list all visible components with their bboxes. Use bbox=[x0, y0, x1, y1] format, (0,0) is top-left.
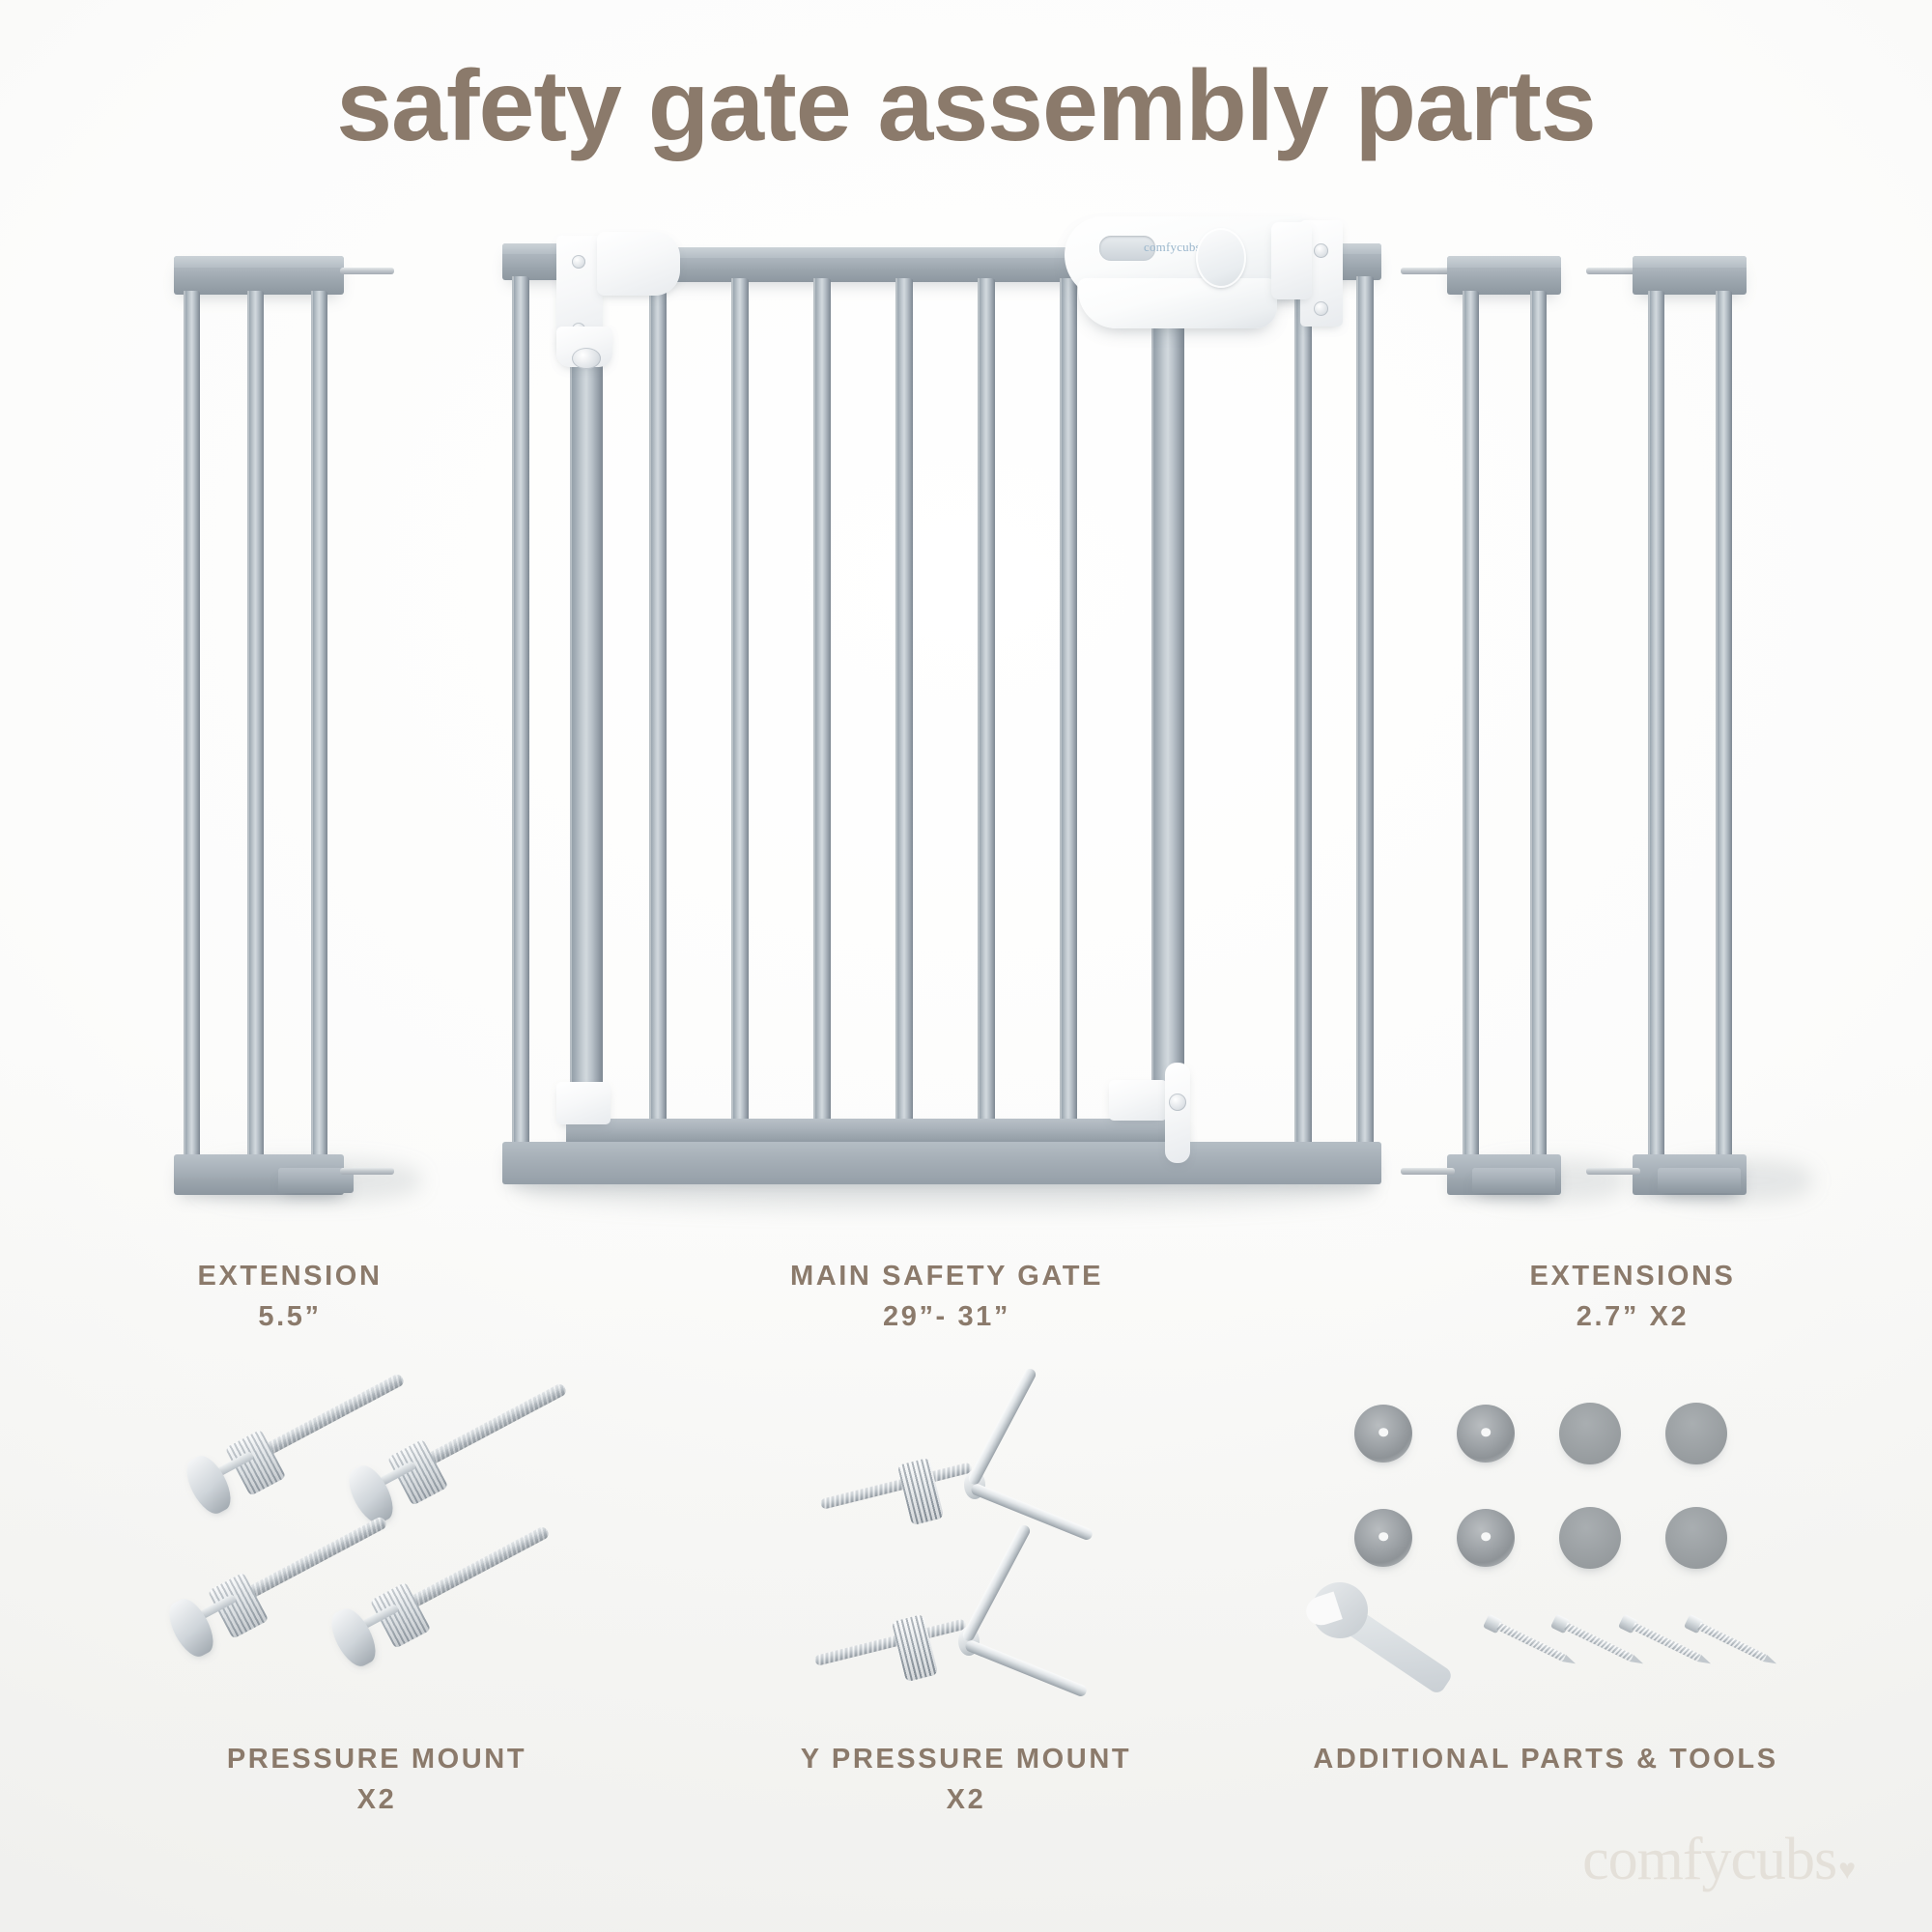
y-mount-threaded-rod bbox=[820, 1462, 973, 1509]
gate-bottom-latch-arm[interactable] bbox=[1165, 1063, 1190, 1163]
caption-line-2: X2 bbox=[734, 1779, 1198, 1820]
gate-hinge-top-barrel bbox=[597, 232, 680, 296]
caption-additional-parts-tools: ADDITIONAL PARTS & TOOLS bbox=[1246, 1739, 1845, 1779]
wrench bbox=[1298, 1582, 1463, 1698]
extension-bottom-rail-lip bbox=[1472, 1168, 1555, 1193]
extension-bar bbox=[184, 291, 200, 1160]
product-extension-2-7-a bbox=[1447, 256, 1621, 1203]
gate-bottom-latch-block bbox=[1109, 1080, 1167, 1121]
caption-extensions-2-7: EXTENSIONS 2.7” X2 bbox=[1391, 1256, 1874, 1337]
gate-door-bar bbox=[895, 278, 913, 1128]
y-mount-branch-upper bbox=[967, 1367, 1038, 1487]
page-title: safety gate assembly parts bbox=[0, 56, 1932, 156]
gate-hinge-bottom-block bbox=[556, 1082, 611, 1124]
bottom-latch-pivot-icon bbox=[1169, 1094, 1186, 1111]
product-y-pressure-mount-set bbox=[821, 1381, 1169, 1710]
wall-pad bbox=[1665, 1507, 1727, 1569]
y-pressure-mount bbox=[815, 1538, 1134, 1702]
caption-line-2: 5.5” bbox=[58, 1296, 522, 1337]
gate-latch-handle-lower[interactable] bbox=[1078, 278, 1277, 328]
brand-watermark-text: comfycubs bbox=[1582, 1827, 1836, 1892]
screw-tip bbox=[1764, 1655, 1778, 1667]
extension-bottom-connector-rod bbox=[1586, 1168, 1640, 1175]
wall-cup bbox=[1457, 1405, 1515, 1463]
extension-top-rail bbox=[174, 256, 344, 295]
y-pressure-mount bbox=[821, 1381, 1140, 1546]
product-pressure-mount-set bbox=[203, 1401, 609, 1719]
caption-line-2: 2.7” X2 bbox=[1391, 1296, 1874, 1337]
gate-door-bar bbox=[978, 278, 995, 1128]
gate-outer-post-left bbox=[512, 276, 529, 1175]
latch-brand-label: comfycubs bbox=[1144, 240, 1201, 255]
extension-bottom-rail-lip bbox=[1658, 1168, 1741, 1193]
product-main-safety-gate: comfycubs bbox=[502, 243, 1381, 1209]
caption-line-1: EXTENSION bbox=[198, 1261, 383, 1292]
gate-door-bar bbox=[813, 278, 831, 1128]
caption-line-1: PRESSURE MOUNT bbox=[227, 1744, 526, 1775]
y-mount-knurled-nut bbox=[892, 1614, 938, 1682]
gate-threshold-bar bbox=[502, 1142, 1381, 1184]
gate-outer-post-right-inner bbox=[1294, 276, 1312, 1175]
y-mount-threaded-rod bbox=[814, 1618, 967, 1665]
caption-line-2: 29”- 31” bbox=[676, 1296, 1217, 1337]
wall-cup bbox=[1354, 1509, 1412, 1567]
screw-tip bbox=[1631, 1655, 1645, 1667]
screw-tip bbox=[1698, 1655, 1713, 1667]
gate-door-bar bbox=[731, 278, 749, 1128]
hinge-screw-icon bbox=[572, 255, 585, 269]
pressure-mount-bolt bbox=[365, 1410, 587, 1565]
screw-tip bbox=[1563, 1655, 1577, 1667]
y-mount-branch-lower bbox=[964, 1638, 1089, 1697]
caption-line-1: MAIN SAFETY GATE bbox=[790, 1261, 1103, 1292]
pressure-mount-bolt bbox=[348, 1553, 570, 1708]
extension-bar bbox=[311, 291, 327, 1160]
wall-pad bbox=[1559, 1403, 1621, 1464]
extension-bar bbox=[1716, 291, 1732, 1160]
y-mount-branch-lower bbox=[970, 1482, 1094, 1541]
extension-bar bbox=[247, 291, 264, 1160]
caption-line-1: EXTENSIONS bbox=[1530, 1261, 1736, 1292]
product-additional-parts-tools bbox=[1343, 1391, 1748, 1719]
product-extension-5-5 bbox=[174, 256, 406, 1203]
brand-watermark: comfycubs♥ bbox=[1582, 1830, 1855, 1889]
wall-pad bbox=[1665, 1403, 1727, 1464]
extension-top-rail bbox=[1447, 256, 1561, 295]
y-mount-knurled-nut bbox=[897, 1458, 944, 1525]
gate-door-stile-left bbox=[570, 278, 603, 1128]
wall-cup bbox=[1457, 1509, 1515, 1567]
gate-outer-post-right bbox=[1356, 276, 1374, 1175]
extension-top-connector-rod bbox=[340, 268, 394, 274]
extension-top-rail bbox=[1633, 256, 1747, 295]
product-extension-2-7-b bbox=[1633, 256, 1806, 1203]
strike-screw-icon bbox=[1314, 301, 1328, 316]
caption-extension-5-5: EXTENSION 5.5” bbox=[58, 1256, 522, 1337]
caption-main-safety-gate: MAIN SAFETY GATE 29”- 31” bbox=[676, 1256, 1217, 1337]
caption-y-pressure-mount: Y PRESSURE MOUNT X2 bbox=[734, 1739, 1198, 1820]
caption-line-2: X2 bbox=[106, 1779, 647, 1820]
gate-door-bar bbox=[1060, 278, 1077, 1128]
wall-pad bbox=[1559, 1507, 1621, 1569]
latch-press-button[interactable] bbox=[1196, 228, 1246, 288]
extension-bottom-connector-rod bbox=[340, 1168, 394, 1175]
gate-door-bar bbox=[649, 278, 667, 1128]
caption-pressure-mount: PRESSURE MOUNT X2 bbox=[106, 1739, 647, 1820]
heart-icon: ♥ bbox=[1838, 1854, 1855, 1886]
gate-door-stile-right bbox=[1151, 278, 1184, 1128]
caption-line-1: ADDITIONAL PARTS & TOOLS bbox=[1313, 1744, 1777, 1775]
gate-latch-strike-shoulder bbox=[1271, 222, 1312, 299]
strike-screw-icon bbox=[1314, 243, 1328, 258]
y-mount-branch-upper bbox=[961, 1523, 1033, 1643]
caption-line-1: Y PRESSURE MOUNT bbox=[801, 1744, 1131, 1775]
extension-bar bbox=[1530, 291, 1547, 1160]
extension-bar bbox=[1648, 291, 1664, 1160]
hinge-pivot-icon bbox=[572, 348, 601, 369]
extension-bottom-connector-rod bbox=[1401, 1168, 1455, 1175]
wall-cup bbox=[1354, 1405, 1412, 1463]
extension-bar bbox=[1463, 291, 1479, 1160]
